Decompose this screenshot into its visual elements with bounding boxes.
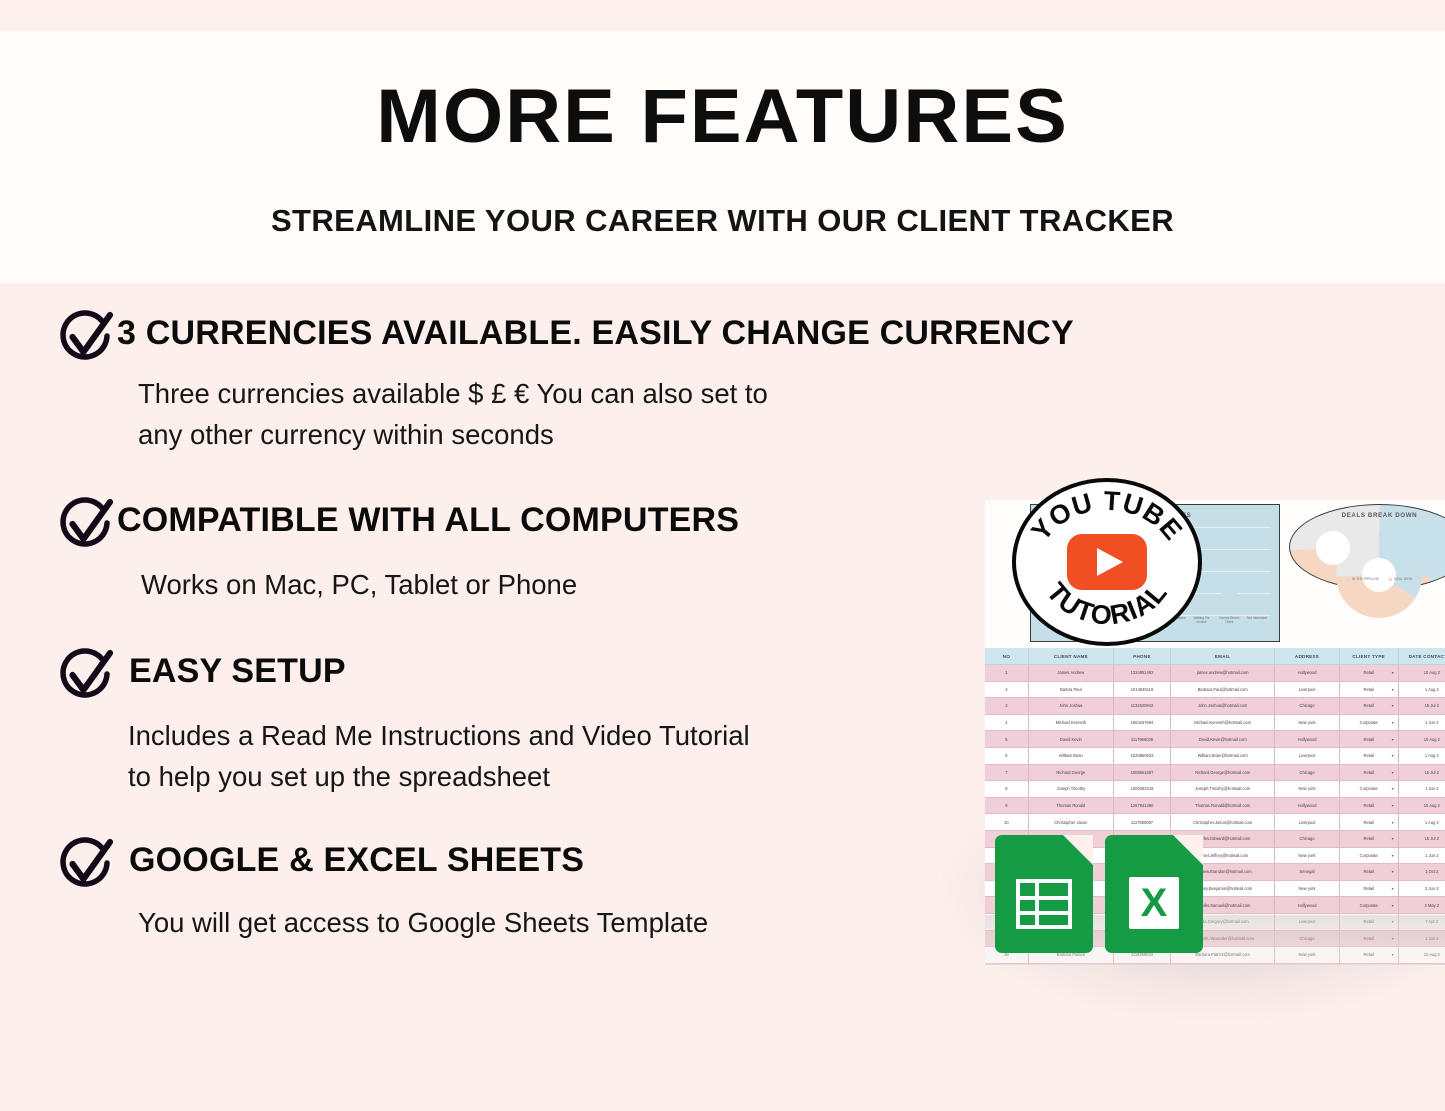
chevron-down-icon[interactable]: ▾ xyxy=(1392,836,1394,841)
chevron-down-icon[interactable]: ▾ xyxy=(1392,869,1394,874)
table-cell: 15 Jul 2 xyxy=(1399,765,1445,781)
chevron-down-icon[interactable]: ▾ xyxy=(1392,786,1394,791)
feature-heading-row: COMPATIBLE WITH ALL COMPUTERS xyxy=(0,497,1050,555)
table-cell: 1267841390 xyxy=(1114,798,1171,814)
table-cell: Hollywood xyxy=(1275,798,1340,814)
features-list: 3 CURRENCIES AVAILABLE. EASILY CHANGE CU… xyxy=(0,310,1050,944)
table-row: 5David Kevin1117966039David.Kevin@hotmai… xyxy=(985,731,1445,748)
table-cell: Corporate▾ xyxy=(1340,897,1399,913)
table-cell: Christopher Jason xyxy=(1029,814,1114,830)
table-cell: 1 Aug 2 xyxy=(1399,748,1445,764)
table-cell: 1 Jun 2 xyxy=(1399,715,1445,731)
page-subtitle: STREAMLINE YOUR CAREER WITH OUR CLIENT T… xyxy=(271,203,1174,239)
deals-breakdown-chart: DEALS BREAK DOWN IN THE PIPELINE DEAL WO… xyxy=(1289,504,1445,590)
table-cell: Retail▾ xyxy=(1340,814,1399,830)
table-cell: Retail▾ xyxy=(1340,798,1399,814)
table-cell: Richard George xyxy=(1029,765,1114,781)
table-cell: Retail▾ xyxy=(1340,765,1399,781)
table-cell: 1 Aug 2 xyxy=(1399,682,1445,698)
table-cell: 10 Aug 2 xyxy=(1399,798,1445,814)
table-cell: Hollywood xyxy=(1275,731,1340,747)
table-row: 2Barbra Paul1014949119Barbara.Paul@hotma… xyxy=(985,682,1445,699)
table-cell: Thomas.Ronald@hotmail.com xyxy=(1171,798,1275,814)
feature-title: GOOGLE & EXCEL SHEETS xyxy=(129,843,584,879)
table-cell: 1 Jun 2 xyxy=(1399,848,1445,864)
table-row: 3John Joshua1132620942John.Joshua@hotmai… xyxy=(985,698,1445,715)
check-circle-icon xyxy=(55,497,117,555)
chevron-down-icon[interactable]: ▾ xyxy=(1392,753,1394,758)
table-cell: 1 Aug 2 xyxy=(1399,814,1445,830)
table-cell: Joseph Timothy xyxy=(1029,781,1114,797)
table-cell: 10 Aug 2 xyxy=(1399,665,1445,681)
table-cell: Michael.Kenneth@hotmail.com xyxy=(1171,715,1275,731)
youtube-tutorial-badge[interactable]: YOU TUBE TUTORIAL xyxy=(1012,478,1202,646)
table-cell: Retail▾ xyxy=(1340,864,1399,880)
table-cell: Chicago xyxy=(1275,698,1340,714)
table-cell: 1 Jun 2 xyxy=(1399,781,1445,797)
table-row: 4Michael Kenneth1064267694Michael.Kennet… xyxy=(985,715,1445,732)
feature-title: 3 CURRENCIES AVAILABLE. EASILY CHANGE CU… xyxy=(117,316,1074,352)
product-mockup: OVERALL STATUSES xyxy=(930,450,1445,1070)
table-cell: 1 xyxy=(985,665,1029,681)
table-cell: 1 Oct 2 xyxy=(1399,864,1445,880)
table-cell: William Brian xyxy=(1029,748,1114,764)
chart-title: DEALS BREAK DOWN xyxy=(1290,512,1445,519)
microsoft-excel-icon[interactable]: X xyxy=(1105,835,1203,953)
legend-label: IN THE PIPELINE xyxy=(1352,577,1379,581)
table-cell: 1132620942 xyxy=(1114,698,1171,714)
column-header-phone: PHONE xyxy=(1114,648,1171,664)
chevron-down-icon[interactable]: ▾ xyxy=(1392,703,1394,708)
table-cell: Barbra Paul xyxy=(1029,682,1114,698)
table-cell: Retail▾ xyxy=(1340,881,1399,897)
google-sheets-icon[interactable] xyxy=(995,835,1093,953)
table-cell: 1014949119 xyxy=(1114,682,1171,698)
table-cell: 8 xyxy=(985,781,1029,797)
feature-item-compatible: COMPATIBLE WITH ALL COMPUTERS Works on M… xyxy=(0,497,1050,606)
table-cell: 4 xyxy=(985,715,1029,731)
legend-label: DEAL WON xyxy=(1394,577,1412,581)
table-cell: 7 xyxy=(985,765,1029,781)
donut-ring xyxy=(1336,532,1422,618)
table-cell: 15 Jul 2 xyxy=(1399,698,1445,714)
page-root: MORE FEATURES STREAMLINE YOUR CAREER WIT… xyxy=(0,0,1445,1111)
excel-x-glyph: X xyxy=(1129,877,1179,929)
table-cell: 10 Aug 2 xyxy=(1399,731,1445,747)
legend-entry: IN THE PIPELINE xyxy=(1347,577,1379,581)
feature-description: Includes a Read Me Instructions and Vide… xyxy=(128,716,1050,797)
check-circle-icon xyxy=(55,310,117,368)
table-cell: Liverpool xyxy=(1275,814,1340,830)
table-cell: Hollywood xyxy=(1275,897,1340,913)
chevron-down-icon[interactable]: ▾ xyxy=(1392,737,1394,742)
table-cell: Christopher.Jason@hotmail.com xyxy=(1171,814,1275,830)
table-row: 8Joseph Timothy1000382319Joseph.Timothy@… xyxy=(985,781,1445,798)
feature-description: Works on Mac, PC, Tablet or Phone xyxy=(141,565,1050,606)
table-cell: John.Joshua@hotmail.com xyxy=(1171,698,1275,714)
table-cell: Retail▾ xyxy=(1340,665,1399,681)
table-cell: New york xyxy=(1275,781,1340,797)
app-icons-group: X xyxy=(995,835,1220,955)
table-cell: 3 Jun 2 xyxy=(1399,881,1445,897)
table-cell: 6 xyxy=(985,748,1029,764)
chevron-down-icon[interactable]: ▾ xyxy=(1392,770,1394,775)
column-header-no: NO xyxy=(985,648,1029,664)
donut-plot-area xyxy=(1290,529,1445,621)
table-cell: 2 xyxy=(985,682,1029,698)
table-cell: Michael Kenneth xyxy=(1029,715,1114,731)
top-pink-band xyxy=(0,0,1445,31)
table-cell: Corporate▾ xyxy=(1340,848,1399,864)
chevron-down-icon[interactable]: ▾ xyxy=(1392,670,1394,675)
feature-description: Three currencies available $ £ € You can… xyxy=(138,374,1050,455)
table-cell: 1000382319 xyxy=(1114,781,1171,797)
table-cell: 15 Jul 2 xyxy=(1399,831,1445,847)
table-cell: Retail▾ xyxy=(1340,682,1399,698)
chevron-down-icon[interactable]: ▾ xyxy=(1392,820,1394,825)
table-cell: 1020860633 xyxy=(1114,748,1171,764)
table-cell: Corporate▾ xyxy=(1340,715,1399,731)
table-row: 10Christopher Jason1117880097Christopher… xyxy=(985,814,1445,831)
legend-entry: DEAL WON xyxy=(1389,577,1412,581)
excel-letter: X xyxy=(1141,883,1168,923)
table-row: 6William Brian1020860633William.Brian@ho… xyxy=(985,748,1445,765)
feature-item-currencies: 3 CURRENCIES AVAILABLE. EASILY CHANGE CU… xyxy=(0,310,1050,455)
table-cell: Retail▾ xyxy=(1340,731,1399,747)
chevron-down-icon[interactable]: ▾ xyxy=(1392,687,1394,692)
table-cell: New york xyxy=(1275,848,1340,864)
column-header-address: ADDRESS xyxy=(1275,648,1340,664)
table-cell: Senegal xyxy=(1275,864,1340,880)
sheets-grid-glyph xyxy=(1016,879,1072,929)
page-title: MORE FEATURES xyxy=(376,79,1069,155)
feature-heading-row: EASY SETUP xyxy=(0,648,1050,706)
table-cell: 1117880097 xyxy=(1114,814,1171,830)
check-circle-icon xyxy=(55,648,117,706)
feature-title: EASY SETUP xyxy=(129,654,346,690)
youtube-play-icon[interactable] xyxy=(1067,534,1147,590)
table-cell: 10 xyxy=(985,814,1029,830)
table-cell: William.Brian@hotmail.com xyxy=(1171,748,1275,764)
table-cell: Barbara.Paul@hotmail.com xyxy=(1171,682,1275,698)
table-cell: 5 xyxy=(985,731,1029,747)
table-row: 7Richard George1008661597Richard.George@… xyxy=(985,765,1445,782)
table-cell: Joseph.Timothy@hotmail.com xyxy=(1171,781,1275,797)
table-cell: 1008661597 xyxy=(1114,765,1171,781)
donut-legend: IN THE PIPELINE DEAL WON xyxy=(1290,577,1445,581)
chevron-down-icon[interactable]: ▾ xyxy=(1392,803,1394,808)
page-header: MORE FEATURES STREAMLINE YOUR CAREER WIT… xyxy=(0,31,1445,283)
column-header-client-type: CLIENT TYPE xyxy=(1340,648,1399,664)
table-cell: Hollywood xyxy=(1275,665,1340,681)
chevron-down-icon[interactable]: ▾ xyxy=(1392,853,1394,858)
table-cell: Retail▾ xyxy=(1340,698,1399,714)
table-cell: 9 xyxy=(985,798,1029,814)
table-header-row: NO CLIENT NAME PHONE EMAIL ADDRESS CLIEN… xyxy=(985,648,1445,665)
table-cell: 3 xyxy=(985,698,1029,714)
column-header-email: EMAIL xyxy=(1171,648,1275,664)
table-cell: Corporate▾ xyxy=(1340,781,1399,797)
table-cell: Thomas Ronald xyxy=(1029,798,1114,814)
table-cell: New york xyxy=(1275,881,1340,897)
table-row: 1James Andrew1334951462james.andrew@hotm… xyxy=(985,665,1445,682)
feature-item-easy-setup: EASY SETUP Includes a Read Me Instructio… xyxy=(0,648,1050,797)
table-cell: James Andrew xyxy=(1029,665,1114,681)
table-cell: james.andrew@hotmail.com xyxy=(1171,665,1275,681)
table-cell: Retail▾ xyxy=(1340,831,1399,847)
feature-item-google-excel: GOOGLE & EXCEL SHEETS You will get acces… xyxy=(0,837,1050,944)
chevron-down-icon[interactable]: ▾ xyxy=(1392,720,1394,725)
table-cell: 1064267694 xyxy=(1114,715,1171,731)
chevron-down-icon[interactable]: ▾ xyxy=(1392,886,1394,891)
table-cell: Richard.George@hotmail.com xyxy=(1171,765,1275,781)
feature-title: COMPATIBLE WITH ALL COMPUTERS xyxy=(117,503,739,539)
table-cell: Retail▾ xyxy=(1340,748,1399,764)
table-cell: 1117966039 xyxy=(1114,731,1171,747)
table-cell: New york xyxy=(1275,715,1340,731)
column-header-name: CLIENT NAME xyxy=(1029,648,1114,664)
feature-description: You will get access to Google Sheets Tem… xyxy=(138,903,1050,944)
table-cell: Liverpool xyxy=(1275,682,1340,698)
table-cell: Liverpool xyxy=(1275,748,1340,764)
bar-label: Not Interested xyxy=(1244,617,1270,639)
table-cell: John Joshua xyxy=(1029,698,1114,714)
feature-heading-row: GOOGLE & EXCEL SHEETS xyxy=(0,837,1050,895)
feature-heading-row: 3 CURRENCIES AVAILABLE. EASILY CHANGE CU… xyxy=(0,310,1050,368)
table-cell: Chicago xyxy=(1275,765,1340,781)
table-cell: David Kevin xyxy=(1029,731,1114,747)
table-cell: 1334951462 xyxy=(1114,665,1171,681)
table-cell: 3 May 2 xyxy=(1399,897,1445,913)
table-cell: Chicago xyxy=(1275,831,1340,847)
chevron-down-icon[interactable]: ▾ xyxy=(1392,903,1394,908)
column-header-date: DATE CONTACTED xyxy=(1399,648,1445,664)
bar-label: Cannot Reach Client xyxy=(1216,617,1242,639)
check-circle-icon xyxy=(55,837,117,895)
table-row: 9Thomas Ronald1267841390Thomas.Ronald@ho… xyxy=(985,798,1445,815)
table-cell: David.Kevin@hotmail.com xyxy=(1171,731,1275,747)
